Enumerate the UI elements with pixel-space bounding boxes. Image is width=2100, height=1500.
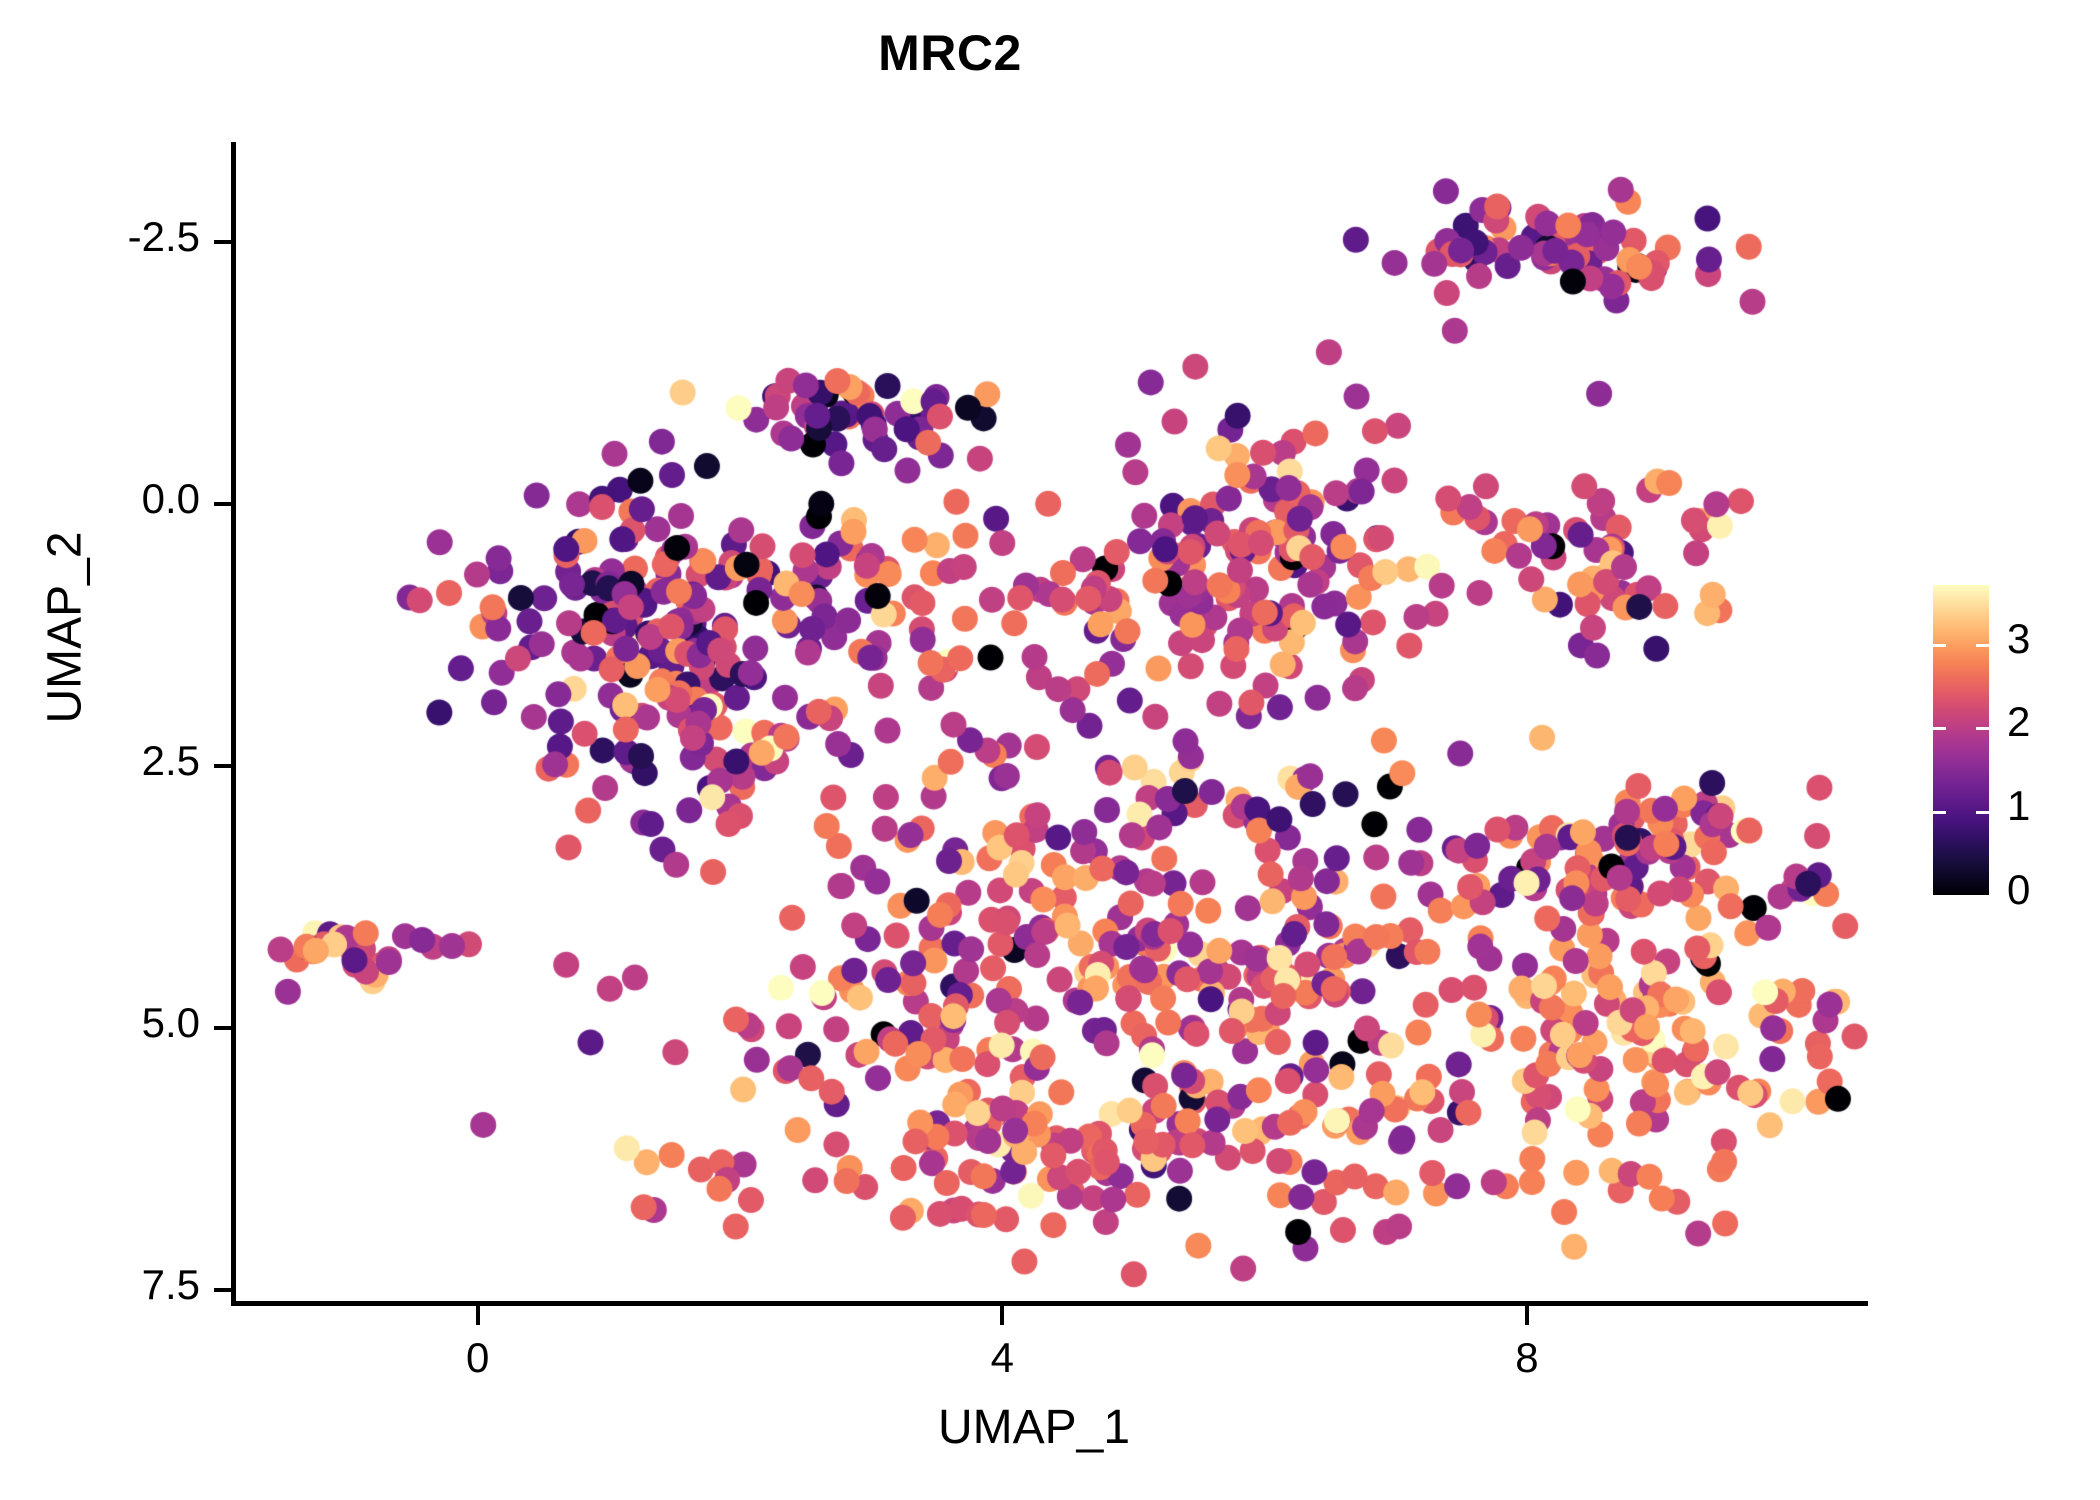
x-axis-label: UMAP_1 xyxy=(634,1400,1434,1455)
legend-tick-mark xyxy=(1933,727,1946,730)
legend-tick-label: 0 xyxy=(2007,866,2030,914)
legend-colorbar xyxy=(1933,585,1989,895)
y-tick-mark xyxy=(214,764,233,768)
y-tick-label: 5.0 xyxy=(10,999,200,1047)
x-tick-label: 0 xyxy=(418,1334,538,1382)
legend-tick-mark xyxy=(1933,811,1946,814)
x-tick-mark xyxy=(476,1306,480,1325)
y-tick-mark xyxy=(214,240,233,244)
color-legend[interactable] xyxy=(1933,585,1989,895)
y-tick-mark xyxy=(214,1288,233,1292)
scatter-canvas xyxy=(235,142,1868,1303)
x-tick-mark xyxy=(1000,1306,1004,1325)
page-title: MRC2 xyxy=(0,24,1900,82)
legend-tick-mark xyxy=(1976,811,1989,814)
y-tick-label: 7.5 xyxy=(10,1261,200,1309)
legend-tick-label: 3 xyxy=(2007,615,2030,663)
legend-tick-mark xyxy=(1933,895,1946,898)
x-tick-mark xyxy=(1525,1306,1529,1325)
plot-panel xyxy=(235,142,1868,1303)
legend-tick-mark xyxy=(1976,644,1989,647)
x-tick-label: 8 xyxy=(1467,1334,1587,1382)
legend-tick-mark xyxy=(1976,727,1989,730)
y-axis-label: UMAP_2 xyxy=(38,428,93,828)
y-tick-label: -2.5 xyxy=(10,213,200,261)
y-tick-mark xyxy=(214,1026,233,1030)
legend-tick-label: 2 xyxy=(2007,698,2030,746)
legend-tick-label: 1 xyxy=(2007,782,2030,830)
y-tick-mark xyxy=(214,502,233,506)
chart-root: MRC2 7.55.02.50.0-2.5 048 UMAP_2 UMAP_1 … xyxy=(0,0,2100,1500)
x-tick-label: 4 xyxy=(942,1334,1062,1382)
legend-tick-mark xyxy=(1933,644,1946,647)
y-axis-line xyxy=(231,142,236,1306)
legend-tick-mark xyxy=(1976,895,1989,898)
